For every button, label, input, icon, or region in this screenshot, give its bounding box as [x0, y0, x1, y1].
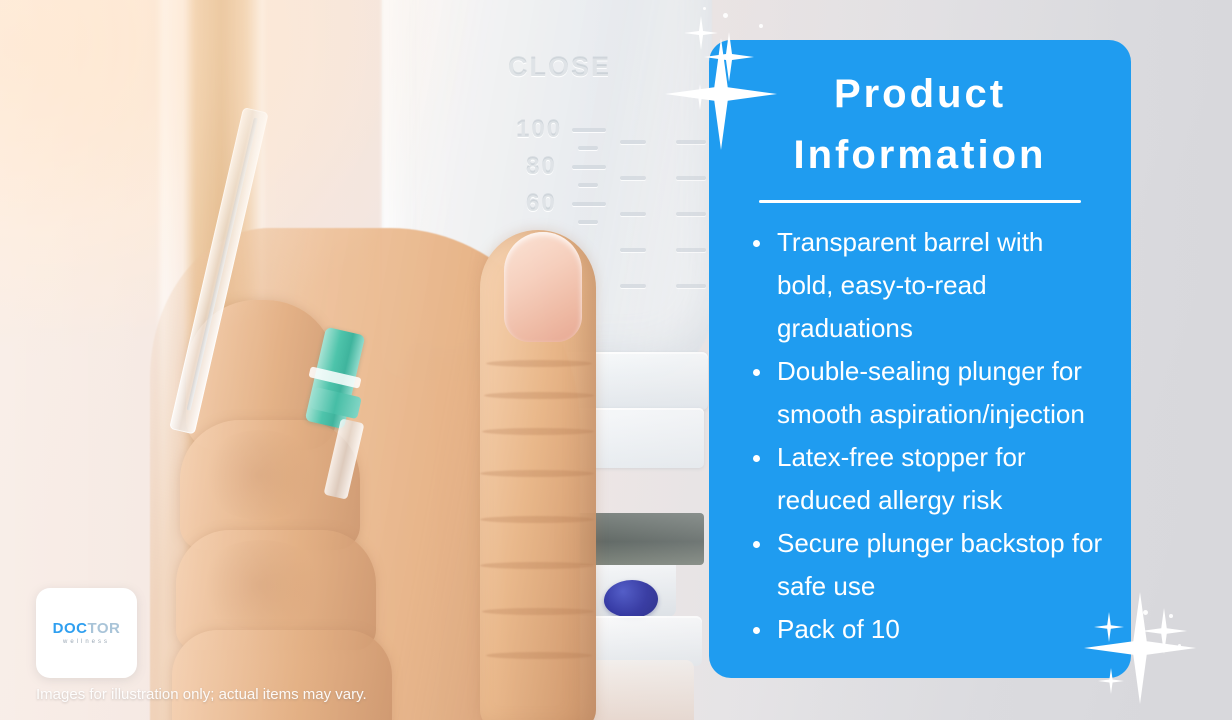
bottle-tick — [572, 202, 606, 206]
disclaimer-text: Images for illustration only; actual ite… — [36, 686, 367, 703]
sparkle-dot — [759, 24, 763, 28]
sparkle-dot — [1169, 614, 1173, 618]
sparkle-dot — [723, 13, 728, 18]
skin-crease — [486, 652, 592, 659]
bottle-tick — [620, 284, 646, 288]
skin-crease — [480, 562, 594, 569]
blue-flip-cap — [604, 580, 658, 618]
bottle-tick — [676, 176, 706, 180]
skin-crease — [484, 392, 594, 399]
bottle-tick — [620, 212, 646, 216]
brand-logo-card[interactable]: DOCTOR wellness — [36, 588, 137, 678]
list-item: Secure plunger backstop for safe use — [747, 522, 1105, 608]
knuckle — [200, 430, 320, 520]
page-title-line-2: Information — [794, 133, 1047, 177]
skin-crease — [482, 428, 594, 435]
list-item: Latex-free stopper for reduced allergy r… — [747, 436, 1105, 522]
bottle-tick — [676, 248, 706, 252]
bottle-tick — [578, 183, 598, 187]
bottle-tick — [578, 146, 598, 150]
bottle-graduation-100: 100 — [516, 116, 562, 144]
skin-crease — [482, 608, 594, 615]
knuckle — [196, 540, 326, 630]
bottle-tick — [572, 128, 606, 132]
list-item: Double-sealing plunger for smooth aspira… — [747, 350, 1105, 436]
sparkle-dot — [703, 7, 706, 10]
bottle-tick — [620, 248, 646, 252]
thumbnail — [504, 232, 582, 342]
brand-wordmark-part-1: DOC — [53, 620, 88, 637]
poster-canvas: CLOSE 100 80 60 — [0, 0, 1232, 720]
page-title-line-1: Product — [834, 72, 1006, 116]
brand-wordmark: DOCTOR — [53, 621, 121, 636]
bottle-tick — [676, 212, 706, 216]
bottle-tick — [572, 165, 606, 169]
list-item: Pack of 10 — [747, 608, 1105, 651]
bottle-close-label: CLOSE — [508, 52, 611, 83]
brand-wordmark-part-2: TOR — [87, 620, 120, 637]
feature-list: Transparent barrel with bold, easy-to-re… — [735, 221, 1105, 651]
title-divider — [759, 200, 1081, 203]
bottle-tick — [620, 140, 646, 144]
bottle-tick — [676, 284, 706, 288]
bottle-graduation-80: 80 — [526, 153, 557, 181]
little-finger — [172, 630, 392, 720]
bottle-tick — [578, 220, 598, 224]
skin-crease — [486, 360, 592, 367]
sparkle-dot — [1178, 644, 1181, 647]
bottle-tick — [620, 176, 646, 180]
bottle-graduation-60: 60 — [526, 190, 557, 218]
brand-tagline: wellness — [63, 639, 110, 645]
bottle-tick — [676, 140, 706, 144]
skin-crease — [480, 470, 594, 477]
page-title: Product Information — [735, 64, 1105, 186]
skin-crease — [480, 516, 594, 523]
list-item: Transparent barrel with bold, easy-to-re… — [747, 221, 1105, 350]
product-information-panel: Product Information Transparent barrel w… — [709, 40, 1131, 678]
sparkle-dot — [1143, 610, 1148, 615]
